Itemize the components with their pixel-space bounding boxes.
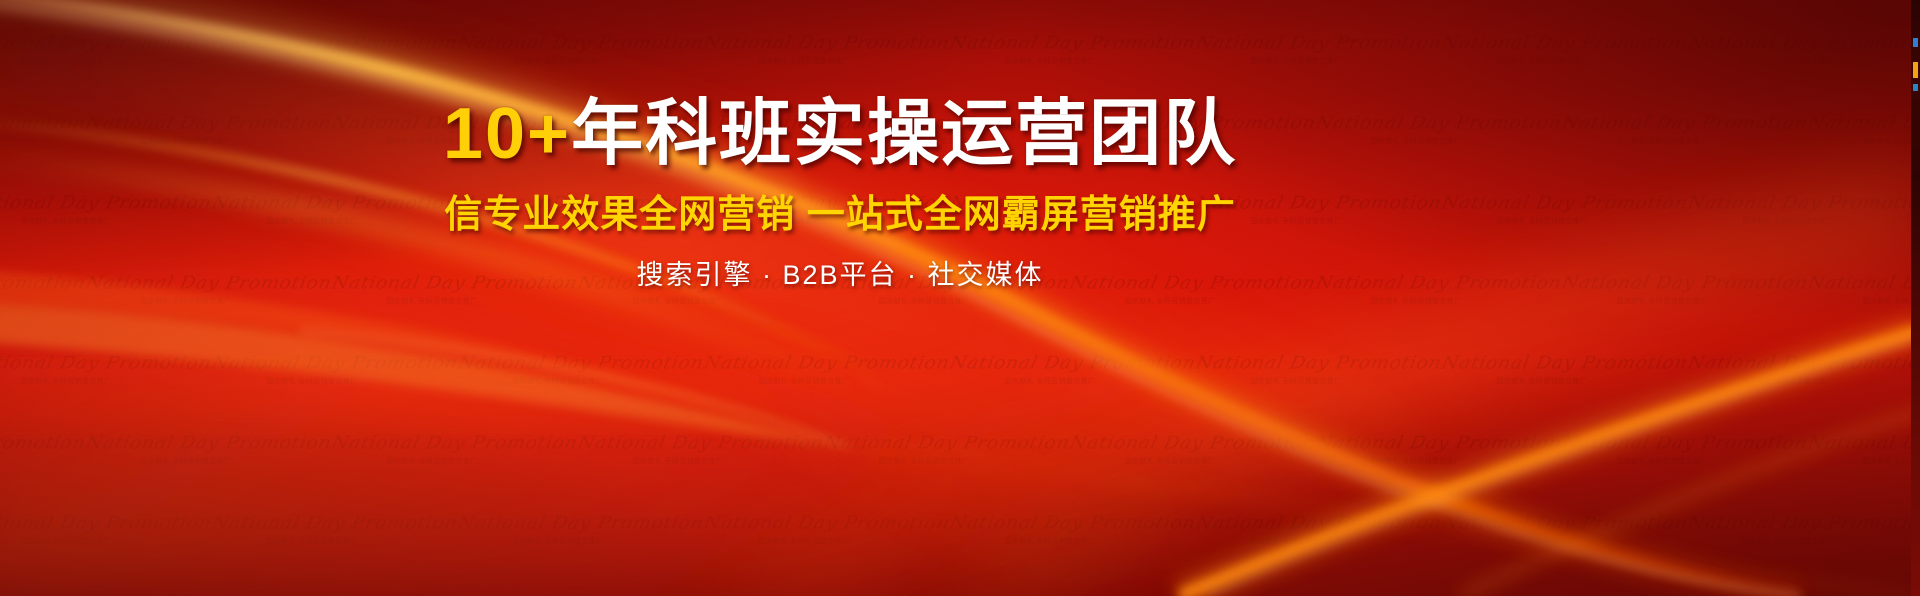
right-edge-sliver <box>1911 0 1920 596</box>
edge-artifact-cyan <box>1913 84 1918 91</box>
edge-artifact-blue <box>1913 38 1918 47</box>
background-vignette-bottom-left <box>0 0 1920 596</box>
promo-banner: National Day Promotion国庆献礼 全网营销整合推广Natio… <box>0 0 1920 596</box>
edge-artifact-orange <box>1913 62 1918 78</box>
